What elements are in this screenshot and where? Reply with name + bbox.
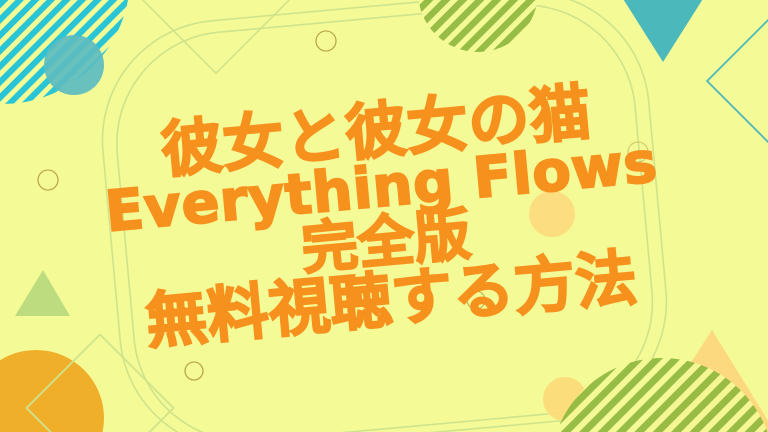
banner-canvas: 彼女と彼女の猫 Everything Flows 完全版 無料視聴する方法 bbox=[0, 0, 768, 432]
title-block: 彼女と彼女の猫 Everything Flows 完全版 無料視聴する方法 bbox=[0, 0, 768, 432]
